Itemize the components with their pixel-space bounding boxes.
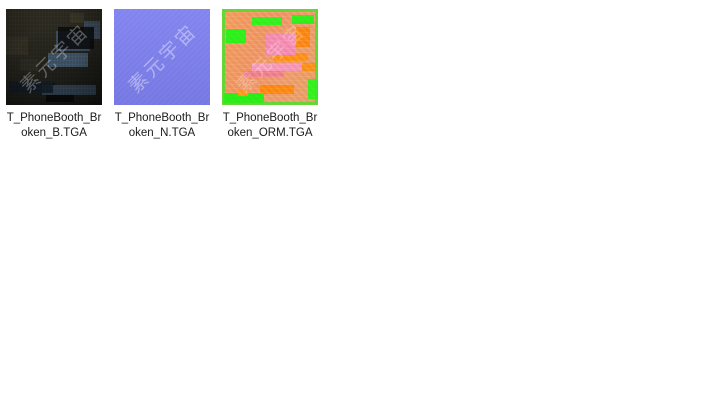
file-thumbnail-base-color[interactable]: 素元宇宙	[6, 9, 102, 105]
file-thumbnail-normal-map[interactable]: 素元宇宙	[114, 9, 210, 105]
file-grid: 素元宇宙 T_PhoneBooth_Broken_B.TGA 素元宇宙 T_Ph…	[0, 0, 324, 140]
list-item[interactable]: 素元宇宙 T_PhoneBooth_Broken_B.TGA	[0, 0, 108, 140]
base-color-texture-preview: 素元宇宙	[6, 9, 102, 105]
orm-mask-texture-preview: 素元宇宙	[222, 9, 318, 105]
texture-border-overlay	[222, 9, 318, 105]
file-name-label[interactable]: T_PhoneBooth_Broken_N.TGA	[112, 111, 212, 140]
normal-map-texture-preview: 素元宇宙	[114, 9, 210, 105]
file-thumbnail-orm-map[interactable]: 素元宇宙	[222, 9, 318, 105]
file-name-label[interactable]: T_PhoneBooth_Broken_ORM.TGA	[220, 111, 320, 140]
list-item[interactable]: 素元宇宙 T_PhoneBooth_Broken_ORM.TGA	[216, 0, 324, 140]
list-item[interactable]: 素元宇宙 T_PhoneBooth_Broken_N.TGA	[108, 0, 216, 140]
texture-vignette-overlay	[6, 9, 102, 105]
watermark-text: 素元宇宙	[121, 16, 202, 97]
watermark-overlay: 素元宇宙	[114, 9, 210, 105]
file-name-label[interactable]: T_PhoneBooth_Broken_B.TGA	[4, 111, 104, 140]
